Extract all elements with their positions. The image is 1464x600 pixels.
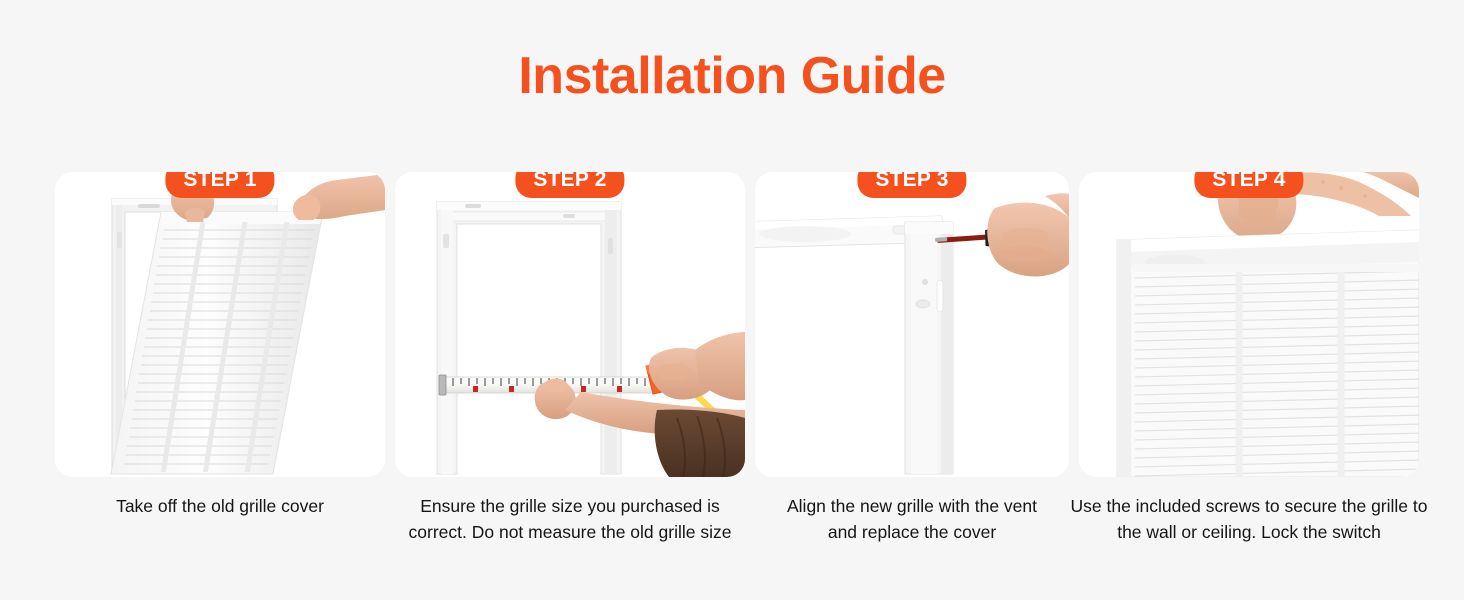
step-3-badge: STEP 3	[857, 172, 966, 198]
step-item-3: STEP 3 Align the new grille with the ven…	[755, 172, 1069, 545]
step-item-4: STEP 4 Use the included screws to secure…	[1079, 172, 1419, 545]
step-2-caption: Ensure the grille size you purchased is …	[390, 493, 750, 545]
page-title: Installation Guide	[0, 46, 1464, 106]
step-4-caption: Use the included screws to secure the gr…	[1060, 493, 1438, 545]
steps-row: STEP 1 Take off the old grille cover	[55, 172, 1419, 545]
step-3-image-card: STEP 3	[755, 172, 1069, 477]
step-2-badge: STEP 2	[515, 172, 624, 198]
step-1-image-card: STEP 1	[55, 172, 385, 477]
step-item-1: STEP 1 Take off the old grille cover	[55, 172, 385, 545]
brown-sleeve	[655, 409, 745, 477]
vent-frame-corner	[905, 222, 953, 474]
lock-switch-illustration	[1079, 172, 1419, 477]
step-1-caption: Take off the old grille cover	[55, 493, 385, 519]
step-3-caption: Align the new grille with the vent and r…	[781, 493, 1043, 545]
screwdriver-alignment-illustration	[755, 172, 1069, 477]
step-1-badge: STEP 1	[165, 172, 274, 198]
step-4-image-card: STEP 4	[1079, 172, 1419, 477]
step-4-badge: STEP 4	[1194, 172, 1303, 198]
step-2-image-card: STEP 2	[395, 172, 745, 477]
step-item-2: STEP 2 Ensure the grille size you purcha…	[395, 172, 745, 545]
measuring-frame-illustration	[395, 172, 745, 477]
installation-guide-page: Installation Guide	[0, 0, 1464, 600]
grille-removal-illustration	[55, 172, 385, 477]
installed-louvered-grille	[1117, 230, 1419, 477]
